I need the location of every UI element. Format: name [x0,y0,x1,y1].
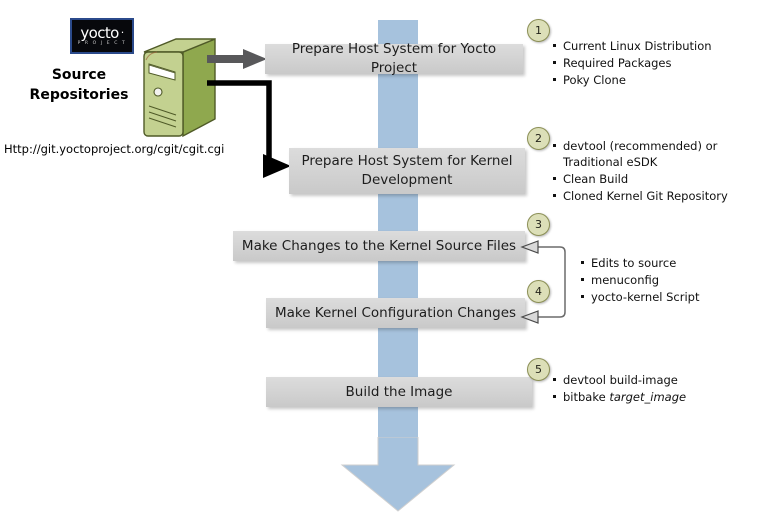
list-item: bitbake target_image [552,389,752,405]
list-item: devtool build-image [552,372,752,388]
flow-down-arrow-icon [340,437,456,513]
logo-subtitle: P R O J E C T [78,42,127,47]
list-item: Current Linux Distribution [552,38,757,54]
step-1-bullets: Current Linux Distribution Required Pack… [552,38,757,89]
list-item: menuconfig [580,272,750,288]
source-repositories-url: Http://git.yoctoproject.org/cgit/cgit.cg… [4,142,224,156]
logo-dot: · [121,26,124,39]
source-repositories-label: Source Repositories [18,65,140,105]
step-number-badge-1: 1 [527,19,550,42]
step-number-badge-5: 5 [527,358,550,381]
step-box-5[interactable]: Build the Image [266,377,532,407]
diagram-canvas: yocto· P R O J E C T Source Repositories… [0,0,769,517]
list-item: Cloned Kernel Git Repository [552,188,762,204]
step-box-4[interactable]: Make Kernel Configuration Changes [266,298,525,328]
step-number-badge-2: 2 [527,127,550,150]
connector-source-to-step1 [207,47,269,71]
list-item: Clean Build [552,171,762,187]
step-3-4-shared-bullets: Edits to source menuconfig yocto-kernel … [580,255,750,306]
source-label-line1: Source [18,65,140,85]
list-item: devtool (recommended) or Traditional eSD… [552,138,762,170]
step-number-badge-4: 4 [527,280,550,303]
source-label-line2: Repositories [18,85,140,105]
bitbake-target-arg: target_image [609,390,686,404]
connector-source-to-step2 [207,78,295,178]
step-box-1[interactable]: Prepare Host System for Yocto Project [265,44,523,74]
list-item: Poky Clone [552,72,757,88]
step-box-2[interactable]: Prepare Host System for Kernel Developme… [289,148,525,194]
logo-wordmark: yocto [80,24,118,42]
list-item: Edits to source [580,255,750,271]
step-2-bullets: devtool (recommended) or Traditional eSD… [552,138,762,205]
list-item: Required Packages [552,55,757,71]
step-box-3[interactable]: Make Changes to the Kernel Source Files [233,231,525,261]
list-item: yocto-kernel Script [580,289,750,305]
step-5-bullets: devtool build-image bitbake target_image [552,372,752,406]
bitbake-command: bitbake [563,390,609,404]
yocto-project-logo: yocto· P R O J E C T [70,18,134,54]
step-number-badge-3: 3 [527,213,550,236]
